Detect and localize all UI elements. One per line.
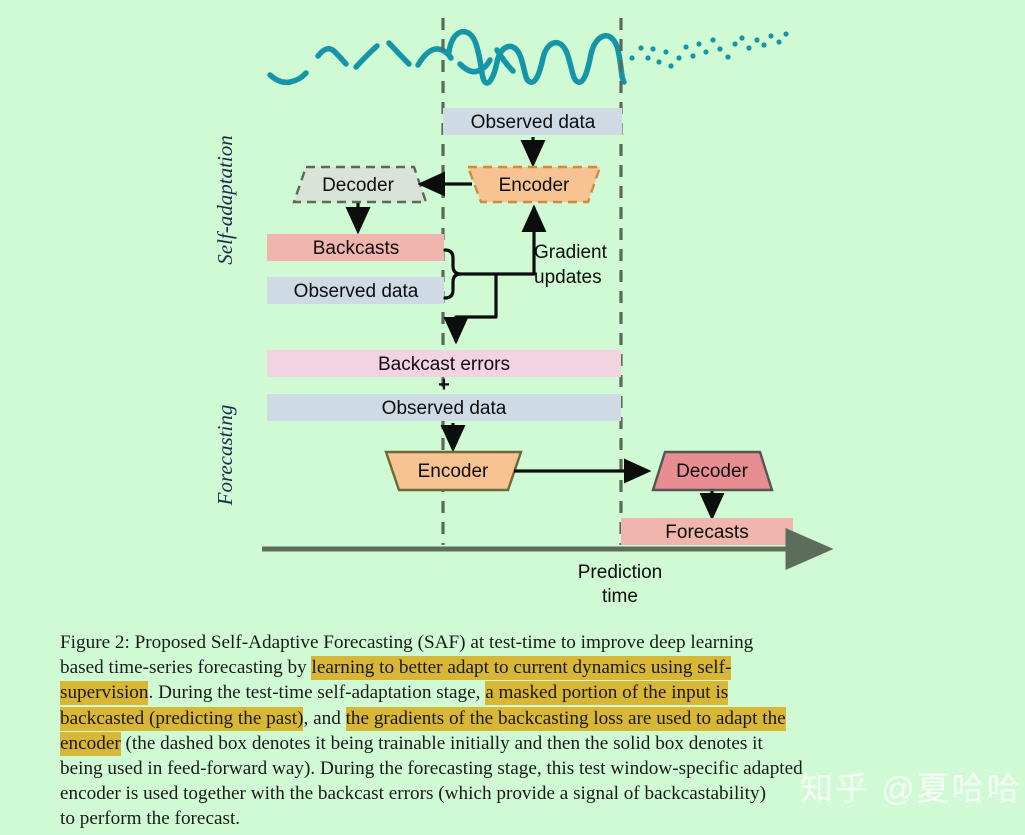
svg-text:Encoder: Encoder	[499, 175, 570, 196]
caption-line-6: being used in feed-forward way). During …	[60, 756, 980, 781]
caption-highlight: the gradients of the backcasting loss ar…	[346, 707, 786, 731]
gradient-updates-label-line2: updates	[534, 267, 602, 288]
prediction-time-label-line2: time	[602, 586, 638, 607]
node-encoder-top: Encoder	[468, 167, 600, 202]
caption-text: , and	[303, 708, 345, 729]
svg-text:Forecasts: Forecasts	[665, 522, 748, 543]
node-observed-data-mid: Observed data	[267, 277, 444, 304]
caption-line-4: backcasted (predicting the past), and th…	[60, 706, 980, 731]
caption-highlight: supervision	[60, 681, 148, 705]
caption-text: being used in feed-forward way). During …	[60, 758, 803, 779]
gradient-updates-label-line1: Gradient	[534, 242, 608, 263]
stage-label-forecasting: Forecasting	[213, 405, 237, 507]
caption-highlight: learning to better adapt to current dyna…	[311, 656, 731, 680]
stage-label-self-adaptation: Self-adaptation	[213, 135, 237, 265]
svg-text:Backcast errors: Backcast errors	[378, 354, 510, 375]
caption-line-7: encoder is used together with the backca…	[60, 781, 980, 806]
figure-caption: Figure 2: Proposed Self-Adaptive Forecas…	[60, 630, 980, 832]
svg-text:Observed data: Observed data	[471, 112, 596, 133]
svg-text:Backcasts: Backcasts	[313, 238, 400, 259]
caption-text: to perform the forecast.	[60, 808, 240, 829]
svg-text:Observed data: Observed data	[382, 398, 507, 419]
svg-text:Observed data: Observed data	[294, 281, 419, 302]
prediction-time-label-line1: Prediction	[578, 562, 663, 583]
caption-line-3: supervision. During the test-time self-a…	[60, 680, 980, 705]
caption-line-8: to perform the forecast.	[60, 806, 980, 831]
caption-line-2: based time-series forecasting by learnin…	[60, 655, 980, 680]
node-forecasts: Forecasts	[621, 518, 793, 545]
node-backcasts: Backcasts	[267, 234, 444, 261]
svg-text:Encoder: Encoder	[418, 461, 489, 482]
node-backcast-errors: Backcast errors	[267, 350, 621, 377]
node-decoder-bottom: Decoder	[653, 452, 772, 490]
caption-text: Figure 2: Proposed Self-Adaptive Forecas…	[60, 632, 753, 653]
node-observed-data-bottom: Observed data	[267, 394, 621, 421]
node-decoder-top: Decoder	[294, 167, 426, 202]
caption-highlight: a masked portion of the input is	[485, 681, 728, 705]
node-observed-data-top: Observed data	[443, 108, 622, 135]
caption-line-5: encoder (the dashed box denotes it being…	[60, 731, 980, 756]
node-encoder-bottom: Encoder	[386, 452, 521, 490]
svg-text:Decoder: Decoder	[676, 461, 748, 482]
caption-line-1: Figure 2: Proposed Self-Adaptive Forecas…	[60, 630, 980, 655]
caption-highlight: backcasted (predicting the past)	[60, 707, 303, 731]
caption-text: (the dashed box denotes it being trainab…	[121, 733, 763, 754]
svg-text:Decoder: Decoder	[322, 175, 394, 196]
caption-highlight: encoder	[60, 732, 121, 756]
figure-diagram: Self-adaptation Forecasting Observed dat…	[0, 0, 1025, 625]
plus-sign: +	[438, 374, 450, 396]
caption-text: encoder is used together with the backca…	[60, 783, 766, 804]
caption-text: . During the test-time self-adaptation s…	[148, 682, 485, 703]
caption-text: based time-series forecasting by	[60, 657, 311, 678]
